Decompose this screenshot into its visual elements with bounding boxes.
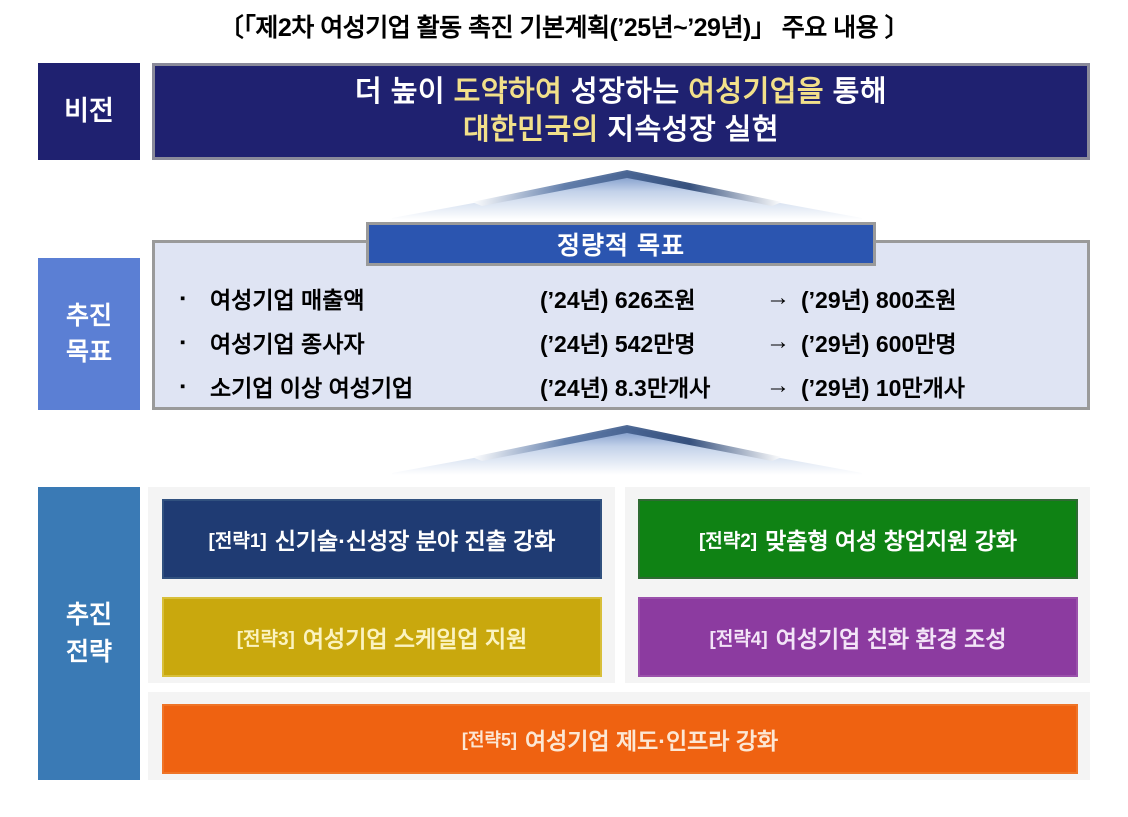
bullet-icon: ▪: [152, 379, 210, 394]
strategy-box-2[interactable]: [전략2] 맞춤형 여성 창업지원 강화: [638, 499, 1078, 579]
vision-seg-3: 성장하는: [562, 76, 688, 108]
strategy-tag-5: [전략5]: [462, 726, 517, 752]
goal-baseline: (’24년) 626조원: [540, 281, 755, 315]
strategy-text-2: 맞춤형 여성 창업지원 강화: [765, 522, 1017, 556]
goal-header: 정량적 목표: [366, 222, 876, 266]
vision-seg-6: 대한민국의: [463, 114, 599, 146]
arrow-right-icon: →: [755, 372, 801, 400]
vision-banner: 더 높이 도약하여 성장하는 여성기업을 통해 대한민국의 지속성장 실현: [152, 63, 1090, 160]
goal-row: ▪ 소기업 이상 여성기업 (’24년) 8.3만개사 → (’29년) 10만…: [152, 364, 1090, 408]
goal-label-line-1: 추진: [66, 298, 112, 334]
goal-label-line-2: 목표: [66, 334, 112, 370]
goal-baseline: (’24년) 8.3만개사: [540, 369, 755, 403]
vision-line-1: 더 높이 도약하여 성장하는 여성기업을 통해: [355, 74, 887, 112]
vision-seg-5: 통해: [824, 76, 887, 108]
goal-label: 추진 목표: [38, 258, 140, 410]
strategy-tag-3: [전략3]: [237, 624, 295, 651]
arrow-right-icon: →: [755, 328, 801, 356]
strategy-text-4: 여성기업 친화 환경 조성: [776, 620, 1007, 654]
bullet-icon: ▪: [152, 335, 210, 350]
strategy-box-5[interactable]: [전략5] 여성기업 제도·인프라 강화: [162, 704, 1078, 774]
vision-seg-2: 도약하여: [454, 76, 563, 108]
goal-target: (’29년) 800조원: [801, 281, 957, 315]
arrow-right-icon: →: [755, 284, 801, 312]
goal-baseline: (’24년) 542만명: [540, 325, 755, 359]
strategy-text-5: 여성기업 제도·인프라 강화: [525, 722, 778, 756]
strategy-text-3: 여성기업 스케일업 지원: [303, 620, 527, 654]
strategy-box-1[interactable]: [전략1] 신기술·신성장 분야 진출 강화: [162, 499, 602, 579]
vision-label-text: 비전: [64, 92, 114, 131]
strategy-label: 추진 전략: [38, 487, 140, 780]
goal-name: 여성기업 매출액: [210, 281, 540, 315]
bullet-icon: ▪: [152, 291, 210, 306]
goal-target: (’29년) 10만개사: [801, 369, 965, 403]
goal-name: 여성기업 종사자: [210, 325, 540, 359]
vision-line-2: 대한민국의 지속성장 실현: [463, 112, 779, 150]
goal-row: ▪ 여성기업 종사자 (’24년) 542만명 → (’29년) 600만명: [152, 320, 1090, 364]
page-title: 〔「제2차 여성기업 활동 촉진 기본계획(’25년~’29년)」 주요 내용 …: [0, 8, 1128, 44]
strategy-text-1: 신기술·신성장 분야 진출 강화: [275, 522, 556, 556]
vision-seg-7: 지속성장 실현: [599, 114, 779, 146]
chevron-up-icon-2: [392, 423, 862, 475]
strategy-box-3[interactable]: [전략3] 여성기업 스케일업 지원: [162, 597, 602, 677]
strategy-tag-1: [전략1]: [209, 526, 267, 553]
vision-seg-4: 여성기업을: [688, 76, 824, 108]
goal-row: ▪ 여성기업 매출액 (’24년) 626조원 → (’29년) 800조원: [152, 276, 1090, 320]
strategy-tag-4: [전략4]: [710, 624, 768, 651]
goal-header-text: 정량적 목표: [557, 226, 685, 262]
vision-label: 비전: [38, 63, 140, 160]
strategy-label-line-2: 전략: [66, 634, 112, 670]
goal-target: (’29년) 600만명: [801, 325, 957, 359]
goal-list: ▪ 여성기업 매출액 (’24년) 626조원 → (’29년) 800조원 ▪…: [152, 272, 1090, 410]
strategy-box-4[interactable]: [전략4] 여성기업 친화 환경 조성: [638, 597, 1078, 677]
strategy-label-line-1: 추진: [66, 597, 112, 633]
vision-seg-1: 더 높이: [355, 76, 454, 108]
goal-name: 소기업 이상 여성기업: [210, 369, 540, 403]
strategy-tag-2: [전략2]: [699, 526, 757, 553]
chevron-up-icon-1: [392, 168, 862, 220]
